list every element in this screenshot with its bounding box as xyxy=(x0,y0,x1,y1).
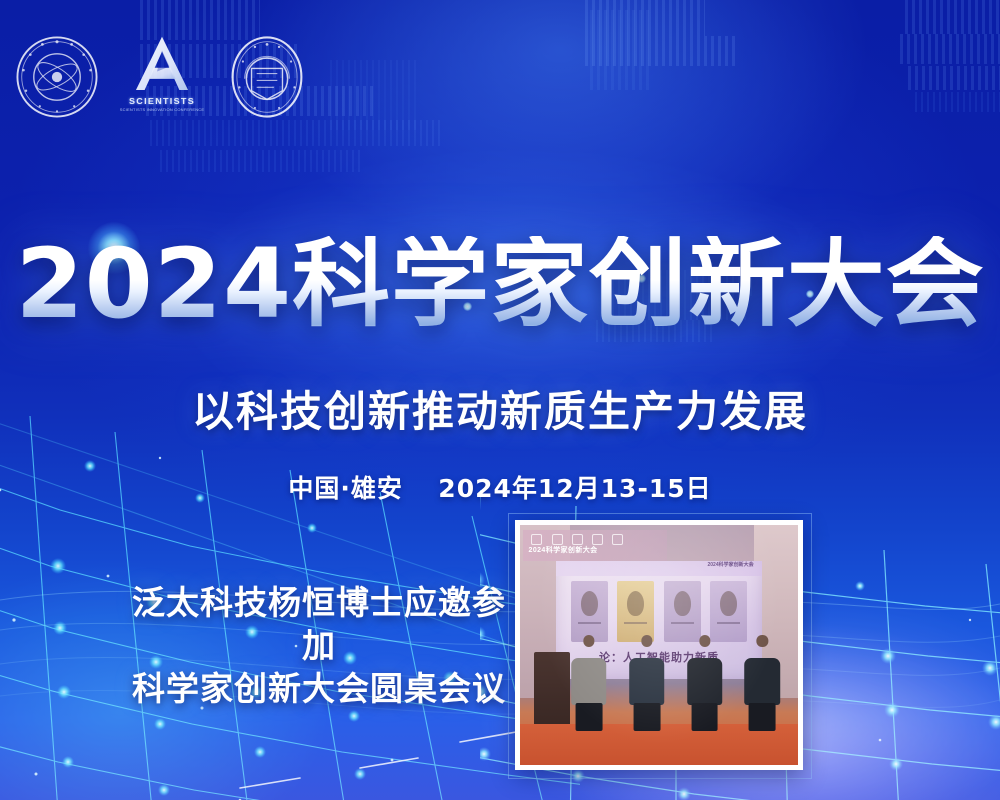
poster-title: 2024科学家创新大会 xyxy=(15,236,984,332)
panelist xyxy=(567,635,610,731)
speaker-card xyxy=(710,581,747,642)
dateline: 中国·雄安 2024年12月13-15日 xyxy=(0,469,1000,505)
venue-icon-1 xyxy=(531,534,542,545)
scientists-logo-en: SCIENTISTS xyxy=(129,96,195,105)
screen-header-bar: 2024科学家创新大会 xyxy=(556,561,762,576)
screen-speaker-cards xyxy=(571,581,748,642)
speaker-card xyxy=(571,581,608,642)
photo-podium xyxy=(534,652,570,724)
speaker-card xyxy=(664,581,701,642)
poster-subtitle: 以科技创新推动新质生产力发展 xyxy=(0,378,1000,439)
photo-venue-banner: 2024科学家创新大会 xyxy=(523,530,668,561)
top-glow xyxy=(250,0,870,260)
dateline-date: 2024年12月13-15日 xyxy=(438,474,711,503)
association-seal-logo xyxy=(224,34,310,125)
roundtable-photo: 2024科学家创新大会 2024科学家创新大会 论：人工智能助力新质 xyxy=(515,520,803,770)
dateline-location: 中国·雄安 xyxy=(288,474,403,503)
photo-content: 2024科学家创新大会 2024科学家创新大会 论：人工智能助力新质 xyxy=(520,525,798,765)
venue-icon-2 xyxy=(552,534,563,545)
panelist xyxy=(683,635,726,731)
panelist xyxy=(625,635,668,731)
caption-line-2: 科学家创新大会圆桌会议 xyxy=(118,668,520,711)
venue-icon-5 xyxy=(612,534,623,545)
conference-poster: SCIENTISTS SCIENTISTS INNOVATION CONFERE… xyxy=(0,0,1000,800)
photo-panelists xyxy=(567,635,784,731)
screen-brand-text: 2024科学家创新大会 xyxy=(708,561,754,568)
venue-icon-4 xyxy=(592,534,603,545)
logo-row: SCIENTISTS SCIENTISTS INNOVATION CONFERE… xyxy=(14,32,314,127)
caption-line-1: 泛太科技杨恒博士应邀参加 xyxy=(118,582,520,668)
title-area: 2024科学家创新大会 xyxy=(0,236,1000,332)
event-caption: 泛太科技杨恒博士应邀参加 科学家创新大会圆桌会议 xyxy=(118,582,520,711)
scientists-triangle-logo: SCIENTISTS SCIENTISTS INNOVATION CONFERE… xyxy=(120,34,204,126)
venue-banner-text: 2024科学家创新大会 xyxy=(529,545,598,555)
scientists-logo-en-sub: SCIENTISTS INNOVATION CONFERENCE xyxy=(120,107,204,112)
venue-icon-3 xyxy=(572,534,583,545)
speaker-card xyxy=(617,581,654,642)
panelist xyxy=(741,635,784,731)
china-academy-seal-logo xyxy=(14,34,100,125)
